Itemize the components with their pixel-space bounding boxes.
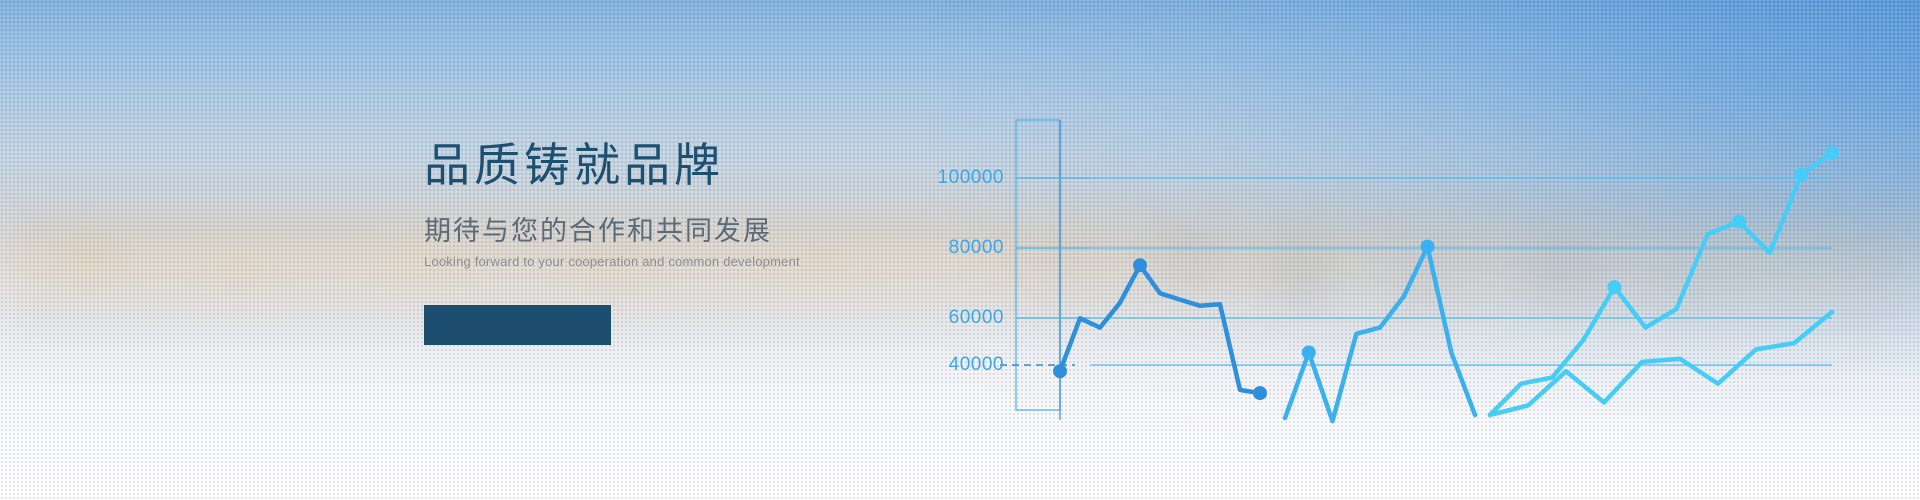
chart-line-series-3 — [1490, 153, 1832, 415]
chart-data-point — [1253, 386, 1267, 400]
chart-line-series-2 — [1285, 247, 1475, 422]
y-axis-labels: 100000 80000 60000 40000 — [938, 167, 1004, 375]
y-tick-label: 60000 — [949, 307, 1004, 328]
chart-data-point — [1607, 280, 1621, 294]
chart-data-point — [1421, 240, 1435, 254]
line-chart: 100000 80000 60000 40000 — [0, 0, 1920, 500]
gridlines — [1090, 178, 1832, 365]
chart-svg: 100000 80000 60000 40000 — [0, 0, 1920, 500]
chart-data-point — [1794, 168, 1808, 182]
hero-copy: 品质铸就品牌 期待与您的合作和共同发展 Looking forward to y… — [424, 140, 904, 270]
subtitle-en: Looking forward to your cooperation and … — [424, 254, 904, 270]
chart-data-point — [1053, 364, 1067, 378]
hero-banner: 100000 80000 60000 40000 品质铸就品牌 期待与您的合作和… — [0, 0, 1920, 500]
chart-line-series-1 — [1060, 265, 1260, 393]
chart-data-point — [1825, 146, 1839, 160]
y-tick-label: 100000 — [938, 167, 1004, 188]
chart-data-point — [1302, 346, 1316, 360]
chart-line-series-4 — [1490, 312, 1832, 415]
chart-data-point — [1133, 258, 1147, 272]
axis-frame — [1016, 120, 1060, 420]
cta-button[interactable] — [424, 305, 611, 345]
chart-data-point — [1732, 215, 1746, 229]
y-tick-label: 80000 — [949, 237, 1004, 258]
chart-series-layer — [1053, 146, 1839, 421]
page-title: 品质铸就品牌 — [424, 140, 904, 191]
subtitle-zh: 期待与您的合作和共同发展 — [424, 217, 904, 247]
y-tick-label: 40000 — [949, 354, 1004, 375]
axis-ticks — [1016, 178, 1090, 318]
